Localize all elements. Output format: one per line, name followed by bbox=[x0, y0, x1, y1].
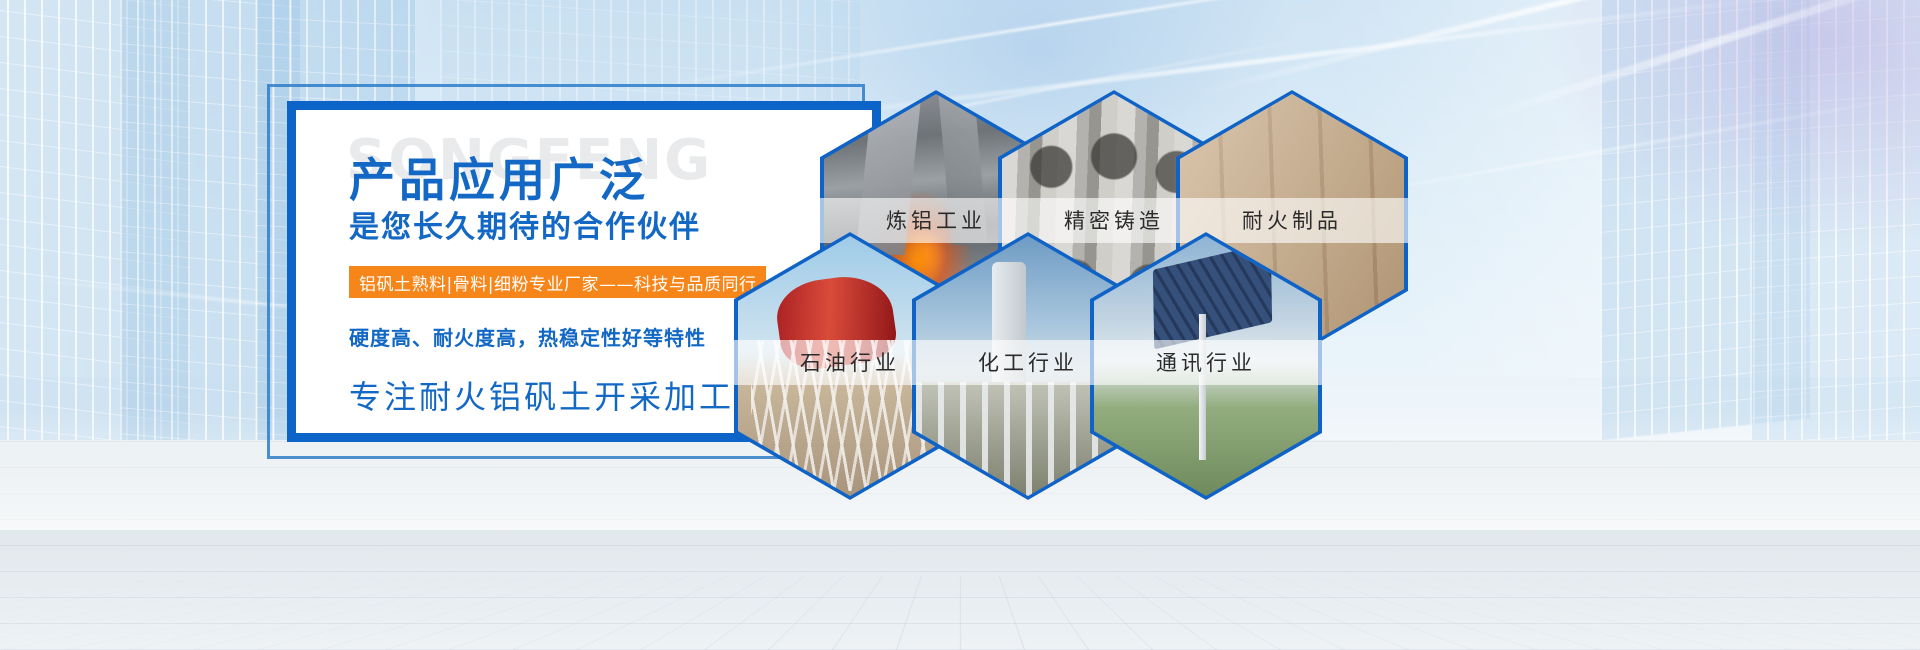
feature-description: 硬度高、耐火度高，热稳定性好等特性 bbox=[349, 322, 706, 351]
company-tagline: 专注耐火铝矾土开采加工 bbox=[349, 372, 734, 418]
page-title: 产品应用广泛 bbox=[349, 144, 649, 210]
industry-label: 通讯行业 bbox=[1090, 340, 1322, 385]
industry-hexagon-grid: 炼铝工业 精密铸造 耐火制品 石油行业 bbox=[820, 84, 1610, 554]
promotional-banner: SONGFENG 产品应用广泛 是您长久期待的合作伙伴 铝矾土熟料|骨料|细粉专… bbox=[0, 0, 1920, 650]
subheadline: 是您长久期待的合作伙伴 bbox=[349, 202, 701, 246]
highlight-bar-text: 铝矾土熟料|骨料|细粉专业厂家——科技与品质同行 bbox=[359, 270, 756, 295]
highlight-bar: 铝矾土熟料|骨料|细粉专业厂家——科技与品质同行 bbox=[349, 266, 766, 298]
